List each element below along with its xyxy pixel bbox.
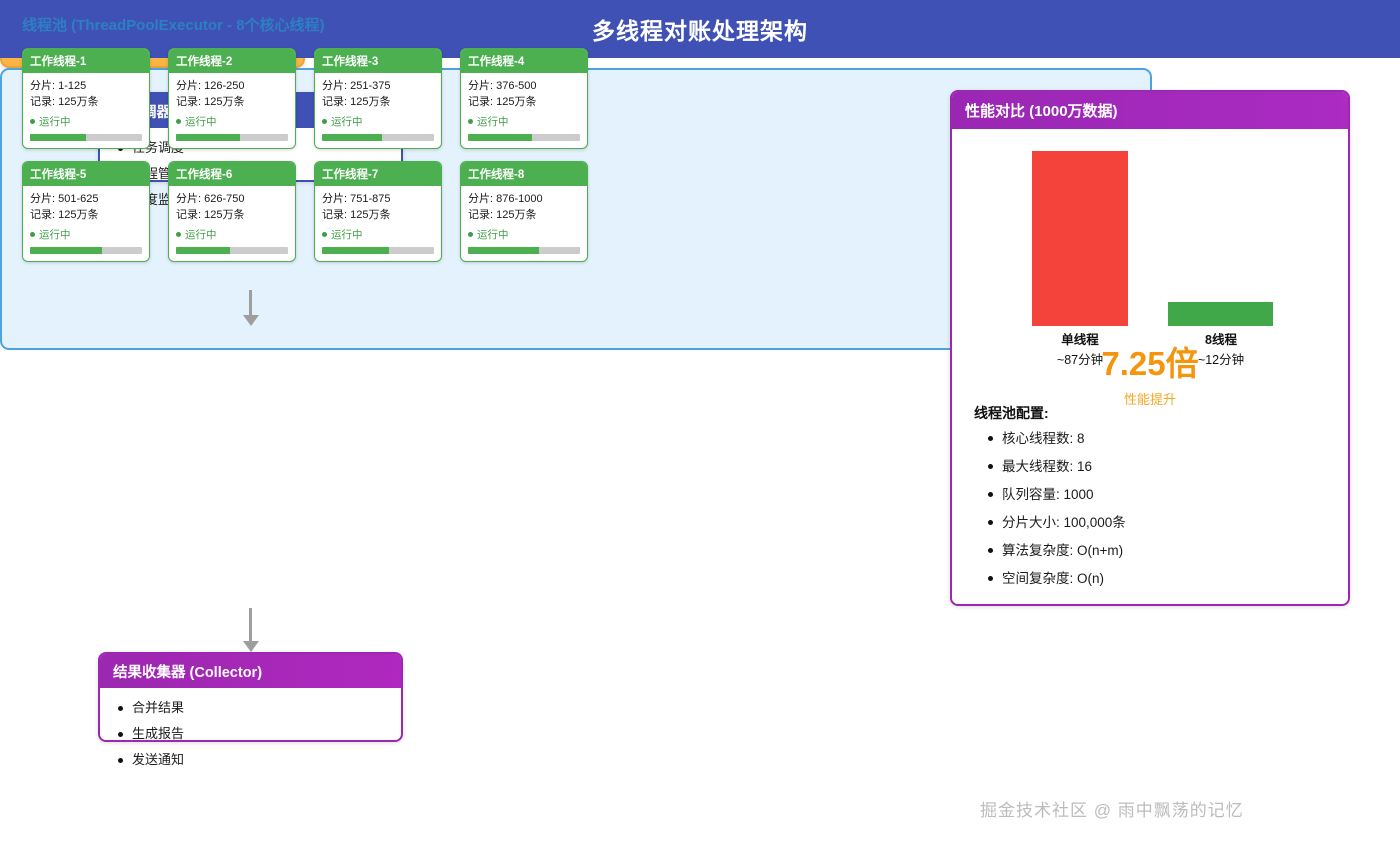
worker-row: 工作线程-1 分片: 1-125 记录: 125万条 运行中	[22, 48, 602, 149]
worker-card[interactable]: 工作线程-2 分片: 126-250 记录: 125万条 运行中	[168, 48, 296, 149]
list-item: 核心线程数: 8	[988, 425, 1348, 453]
worker-status-label: 运行中	[477, 227, 509, 242]
status-dot-icon	[176, 119, 181, 124]
watermark: 掘金技术社区 @ 雨中飘荡的记忆	[980, 796, 1244, 821]
worker-progress-bar	[322, 247, 434, 254]
status-dot-icon	[322, 232, 327, 237]
worker-progress-bar	[322, 134, 434, 141]
worker-shards: 分片: 626-750	[176, 191, 288, 207]
worker-records: 记录: 125万条	[30, 207, 142, 223]
worker-card[interactable]: 工作线程-8 分片: 876-1000 记录: 125万条 运行中	[460, 161, 588, 262]
status-dot-icon	[30, 232, 35, 237]
worker-shards: 分片: 751-875	[322, 191, 434, 207]
worker-name: 工作线程-6	[169, 162, 295, 186]
worker-records: 记录: 125万条	[322, 94, 434, 110]
worker-status-label: 运行中	[39, 114, 71, 129]
worker-progress-bar	[468, 134, 580, 141]
collector-node[interactable]: 结果收集器 (Collector) 合并结果 生成报告 发送通知	[98, 652, 403, 742]
worker-body: 分片: 501-625 记录: 125万条 运行中	[23, 186, 149, 261]
worker-progress-fill	[468, 247, 539, 254]
worker-body: 分片: 626-750 记录: 125万条 运行中	[169, 186, 295, 261]
worker-shards: 分片: 876-1000	[468, 191, 580, 207]
list-item: 合并结果	[118, 695, 401, 721]
worker-card[interactable]: 工作线程-4 分片: 376-500 记录: 125万条 运行中	[460, 48, 588, 149]
collector-body: 合并结果 生成报告 发送通知	[100, 688, 401, 773]
worker-row: 工作线程-5 分片: 501-625 记录: 125万条 运行中	[22, 161, 602, 262]
collector-list: 合并结果 生成报告 发送通知	[100, 695, 401, 773]
worker-progress-fill	[468, 134, 532, 141]
worker-card[interactable]: 工作线程-1 分片: 1-125 记录: 125万条 运行中	[22, 48, 150, 149]
worker-records: 记录: 125万条	[468, 207, 580, 223]
worker-name: 工作线程-7	[315, 162, 441, 186]
worker-progress-fill	[30, 134, 86, 141]
worker-status: 运行中	[176, 114, 288, 129]
worker-status: 运行中	[30, 227, 142, 242]
collector-title: 结果收集器 (Collector)	[100, 654, 401, 688]
speedup-annotation: 7.25倍 性能提升	[952, 347, 1348, 408]
performance-chart: 单线程 ~87分钟 8线程 ~12分钟 7.25倍 性能提升	[952, 129, 1348, 397]
worker-name: 工作线程-8	[461, 162, 587, 186]
list-item: 最大线程数: 16	[988, 453, 1348, 481]
list-item: 生成报告	[118, 721, 401, 747]
bar-single-thread	[1032, 151, 1128, 326]
worker-card[interactable]: 工作线程-3 分片: 251-375 记录: 125万条 运行中	[314, 48, 442, 149]
worker-progress-bar	[30, 247, 142, 254]
worker-records: 记录: 125万条	[176, 94, 288, 110]
worker-card[interactable]: 工作线程-6 分片: 626-750 记录: 125万条 运行中	[168, 161, 296, 262]
worker-status: 运行中	[322, 227, 434, 242]
worker-progress-bar	[30, 134, 142, 141]
worker-name: 工作线程-3	[315, 49, 441, 73]
worker-records: 记录: 125万条	[322, 207, 434, 223]
status-dot-icon	[468, 232, 473, 237]
worker-records: 记录: 125万条	[30, 94, 142, 110]
worker-status: 运行中	[468, 227, 580, 242]
worker-progress-fill	[322, 247, 389, 254]
worker-body: 分片: 751-875 记录: 125万条 运行中	[315, 186, 441, 261]
diagram-canvas: 多线程对账处理架构 主协调器 (Coordinator) 任务调度 线程管理 进…	[0, 0, 1400, 850]
worker-name: 工作线程-5	[23, 162, 149, 186]
worker-status: 运行中	[30, 114, 142, 129]
arrow-threadpool-to-collector	[249, 608, 252, 642]
speedup-caption: 性能提升	[952, 389, 1348, 408]
worker-card[interactable]: 工作线程-5 分片: 501-625 记录: 125万条 运行中	[22, 161, 150, 262]
status-dot-icon	[30, 119, 35, 124]
speedup-value: 7.25倍	[952, 347, 1348, 381]
worker-status: 运行中	[176, 227, 288, 242]
worker-status: 运行中	[322, 114, 434, 129]
worker-shards: 分片: 1-125	[30, 78, 142, 94]
worker-name: 工作线程-4	[461, 49, 587, 73]
worker-shards: 分片: 501-625	[30, 191, 142, 207]
config-list: 核心线程数: 8 最大线程数: 16 队列容量: 1000 分片大小: 100,…	[952, 425, 1348, 593]
status-dot-icon	[322, 119, 327, 124]
list-item: 空间复杂度: O(n)	[988, 565, 1348, 593]
list-item: 队列容量: 1000	[988, 481, 1348, 509]
worker-status: 运行中	[468, 114, 580, 129]
worker-status-label: 运行中	[39, 227, 71, 242]
list-item: 分片大小: 100,000条	[988, 509, 1348, 537]
worker-name: 工作线程-2	[169, 49, 295, 73]
arrow-queue-to-threadpool	[249, 290, 252, 316]
worker-status-label: 运行中	[185, 227, 217, 242]
worker-records: 记录: 125万条	[176, 207, 288, 223]
worker-body: 分片: 876-1000 记录: 125万条 运行中	[461, 186, 587, 261]
page-title: 多线程对账处理架构	[592, 12, 808, 46]
worker-progress-bar	[176, 247, 288, 254]
worker-body: 分片: 251-375 记录: 125万条 运行中	[315, 73, 441, 148]
performance-title: 性能对比 (1000万数据)	[952, 92, 1348, 129]
worker-shards: 分片: 126-250	[176, 78, 288, 94]
worker-status-label: 运行中	[185, 114, 217, 129]
worker-progress-fill	[176, 134, 240, 141]
worker-status-label: 运行中	[331, 227, 363, 242]
worker-grid: 工作线程-1 分片: 1-125 记录: 125万条 运行中	[22, 48, 602, 274]
worker-body: 分片: 126-250 记录: 125万条 运行中	[169, 73, 295, 148]
status-dot-icon	[176, 232, 181, 237]
worker-status-label: 运行中	[331, 114, 363, 129]
bar-eight-thread	[1168, 302, 1273, 326]
status-dot-icon	[468, 119, 473, 124]
worker-shards: 分片: 251-375	[322, 78, 434, 94]
worker-body: 分片: 1-125 记录: 125万条 运行中	[23, 73, 149, 148]
worker-progress-bar	[176, 134, 288, 141]
worker-body: 分片: 376-500 记录: 125万条 运行中	[461, 73, 587, 148]
thread-pool-title: 线程池 (ThreadPoolExecutor - 8个核心线程)	[22, 14, 325, 35]
chart-bars	[952, 151, 1348, 326]
worker-shards: 分片: 376-500	[468, 78, 580, 94]
list-item: 算法复杂度: O(n+m)	[988, 537, 1348, 565]
worker-progress-fill	[30, 247, 102, 254]
worker-card[interactable]: 工作线程-7 分片: 751-875 记录: 125万条 运行中	[314, 161, 442, 262]
list-item: 发送通知	[118, 747, 401, 773]
worker-progress-bar	[468, 247, 580, 254]
worker-progress-fill	[176, 247, 230, 254]
worker-progress-fill	[322, 134, 382, 141]
performance-panel: 性能对比 (1000万数据) 单线程 ~87分钟 8线程 ~12分钟 7.25倍…	[950, 90, 1350, 606]
worker-status-label: 运行中	[477, 114, 509, 129]
worker-records: 记录: 125万条	[468, 94, 580, 110]
worker-name: 工作线程-1	[23, 49, 149, 73]
